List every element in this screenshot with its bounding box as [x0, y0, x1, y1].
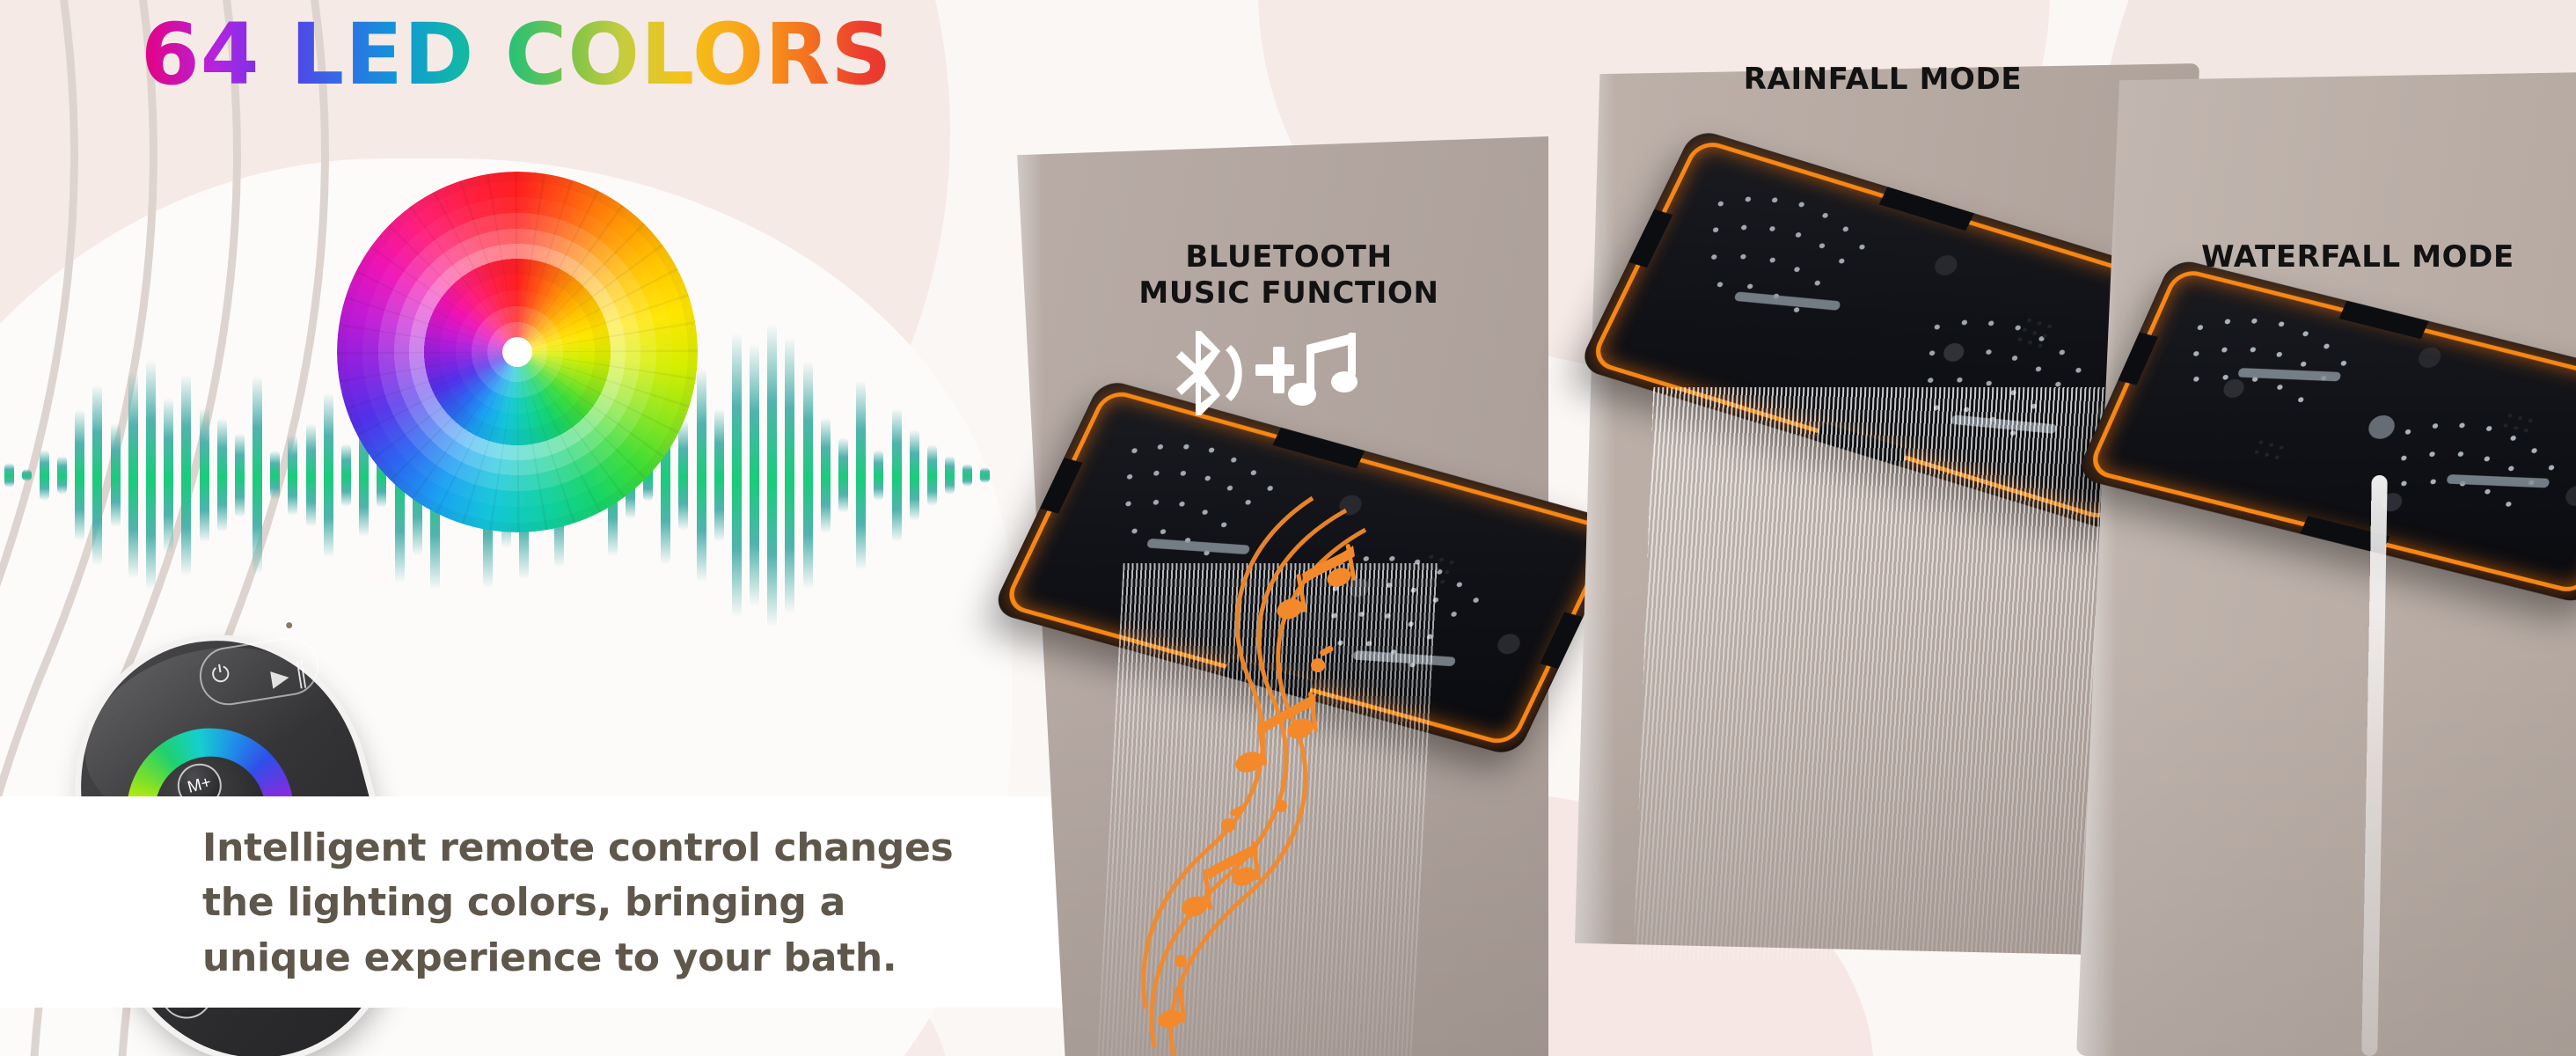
waveform-bar — [146, 360, 156, 590]
floor-shadow — [2076, 642, 2576, 1056]
poster-canvas: 64 LED COLORS ⏻ ▶ ║ M+ M- B+ S- — [0, 0, 2576, 1056]
waveform-bar — [803, 361, 813, 590]
waveform-bar — [75, 409, 84, 541]
bluetooth-title-line2: MUSIC FUNCTION — [1095, 275, 1482, 312]
panel-title-bluetooth: BLUETOOTH MUSIC FUNCTION — [1095, 239, 1482, 312]
music-note-icon — [1288, 333, 1358, 406]
waveform-bar — [910, 429, 919, 521]
waveform-bar — [92, 385, 102, 566]
color-wheel-hub — [502, 337, 532, 367]
waveform-bar — [874, 450, 883, 501]
waveform-bar — [235, 433, 245, 517]
panel-title-rainfall: RAINFALL MODE — [1575, 62, 2191, 98]
description-card: Intelligent remote control changes the l… — [0, 796, 1082, 1008]
waveform-bar — [732, 333, 742, 618]
waveform-bar — [40, 450, 49, 501]
waveform-bar — [785, 336, 794, 614]
waveform-bar — [838, 437, 848, 513]
waveform-bar — [128, 371, 138, 579]
waveform-bar — [892, 408, 902, 542]
waveform-bar — [200, 407, 209, 543]
play-pause-icon[interactable]: ▶ ║ — [269, 661, 311, 690]
bluetooth-music-icons — [1175, 324, 1377, 421]
waveform-bar — [181, 374, 191, 576]
waveform-bar — [856, 380, 866, 570]
waveform-bar — [57, 456, 67, 495]
waveform-bar — [821, 417, 831, 533]
waveform-bar — [962, 464, 972, 487]
waveform-bar — [270, 451, 280, 500]
waveform-bar — [252, 376, 262, 575]
waveform-bar — [697, 368, 706, 583]
color-wheel-icon — [337, 172, 698, 532]
waveform-bar — [4, 463, 14, 488]
remote-indicator-led — [285, 621, 293, 629]
waveform-bar — [767, 323, 777, 627]
waveform-bar — [217, 418, 227, 532]
waveform-bar — [288, 435, 297, 516]
waveform-bar — [714, 408, 724, 542]
description-text: Intelligent remote control changes the l… — [202, 821, 977, 986]
waveform-bar — [111, 423, 121, 527]
waveform-bar — [945, 456, 955, 495]
bluetooth-title-line1: BLUETOOTH — [1095, 239, 1482, 275]
waveform-bar — [324, 392, 333, 558]
bluetooth-signal-icon — [1226, 345, 1242, 401]
waveform-bar — [306, 423, 316, 527]
page-title: 64 LED COLORS — [141, 12, 892, 97]
waveform-bar — [22, 469, 32, 481]
waveform-bar — [164, 398, 173, 553]
waveform-bar — [750, 343, 759, 607]
waveform-bar — [927, 444, 937, 506]
power-icon[interactable]: ⏻ — [209, 661, 231, 686]
bluetooth-icon — [1176, 331, 1220, 415]
waveform-bar — [980, 467, 990, 483]
panel-title-waterfall: WATERFALL MODE — [2103, 239, 2576, 275]
